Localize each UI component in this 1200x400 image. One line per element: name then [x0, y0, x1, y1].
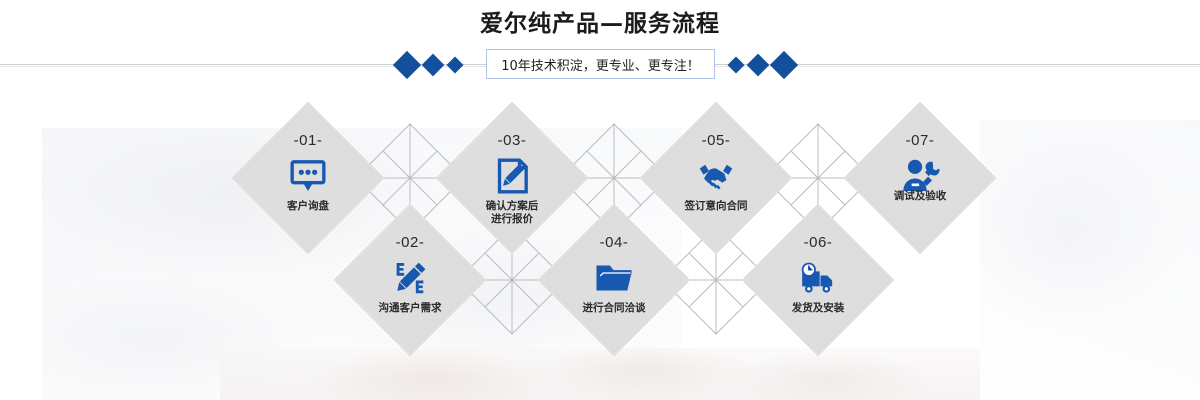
step-number: -06-: [804, 234, 833, 252]
diamond-accent-icon: [422, 54, 445, 77]
step-content: -07- 调试及验收: [844, 102, 996, 254]
document-pencil-icon: [492, 156, 532, 196]
step-label: 沟通客户需求: [379, 302, 442, 315]
step-label: 进行合同洽谈: [583, 302, 646, 315]
step-number: -03-: [498, 132, 527, 150]
step-number: -04-: [600, 234, 629, 252]
delivery-truck-icon: [798, 258, 838, 298]
diamond-accent-icon: [393, 51, 421, 79]
step-label: 确认方案后进行报价: [486, 200, 539, 226]
diamond-accent-icon: [728, 57, 745, 74]
process-step-07[interactable]: -07- 调试及验收: [844, 102, 996, 254]
handshake-icon: [696, 156, 736, 196]
subtitle-badge: 10年技术积淀，更专业、更专注！: [486, 49, 715, 79]
step-label: 客户询盘: [287, 200, 329, 213]
step-label: 发货及安装: [792, 302, 845, 315]
page-title: 爱尔纯产品—服务流程: [0, 8, 1200, 40]
step-number: -01-: [294, 132, 323, 150]
step-number: -02-: [396, 234, 425, 252]
diamond-accents-left: [393, 46, 465, 84]
folder-icon: [594, 258, 634, 298]
step-label: 签订意向合同: [685, 200, 748, 213]
step-number: -07-: [906, 132, 935, 150]
process-step-grid: -01- 客户询盘-02- 沟通客户需求-03- 确认方案后进行报价-04-: [0, 86, 1200, 376]
diamond-accents-right: [726, 46, 798, 84]
step-number: -05-: [702, 132, 731, 150]
flow-infographic: 爱尔纯产品—服务流程 10年技术积淀，更专业、更专注！: [0, 0, 1200, 400]
diamond-accent-icon: [770, 51, 798, 79]
diamond-accent-icon: [747, 54, 770, 77]
pen-writing-icon: [390, 258, 430, 298]
step-label: 调试及验收: [894, 190, 947, 203]
diamond-accent-icon: [447, 57, 464, 74]
chat-bubble-icon: [288, 156, 328, 196]
